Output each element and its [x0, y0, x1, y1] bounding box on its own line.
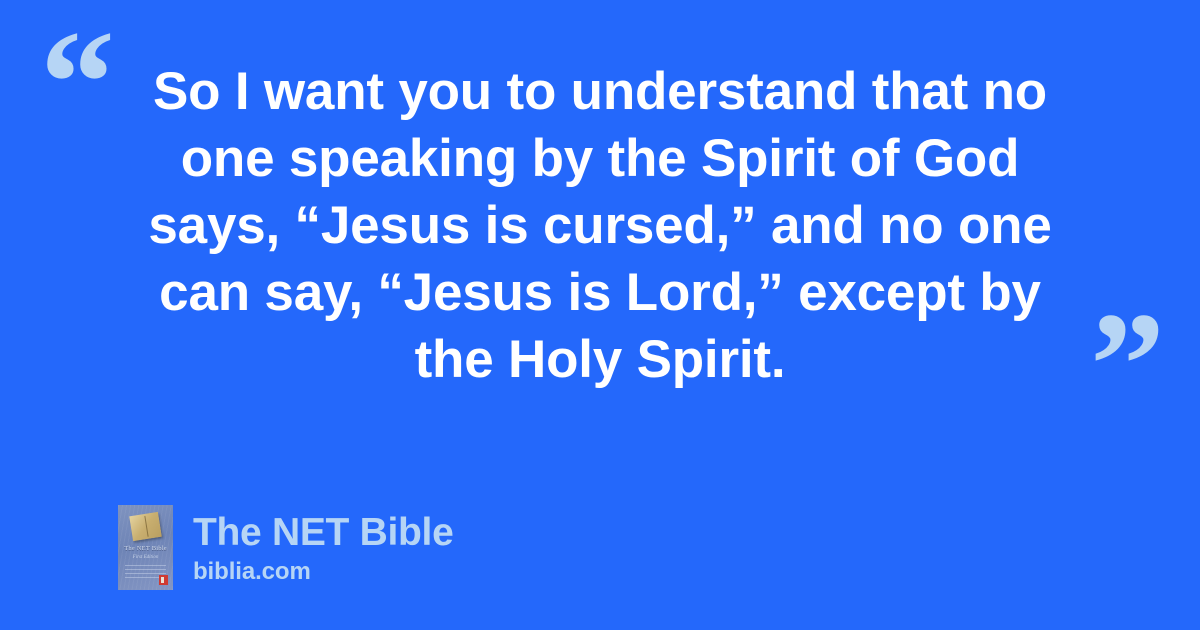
book-cover-thumbnail-icon: The NET Bible First Edition — [118, 505, 173, 590]
attribution-site-link[interactable]: biblia.com — [193, 558, 453, 585]
quote-line: one speaking by the Spirit of God — [110, 125, 1090, 192]
quote-line: So I want you to understand that no — [110, 58, 1090, 125]
quote-line: the Holy Spirit. — [110, 326, 1090, 393]
book-cover-subtitle: First Edition — [118, 555, 173, 560]
book-cover-title: The NET Bible — [118, 545, 173, 552]
close-quote-icon: ” — [1090, 290, 1162, 440]
attribution-title: The NET Bible — [193, 511, 453, 555]
attribution[interactable]: The NET Bible First Edition The NET Bibl… — [118, 505, 453, 590]
quote-card: “ So I want you to understand that no on… — [0, 0, 1200, 630]
book-cover-art-icon — [129, 512, 162, 541]
quote-line: says, “Jesus is cursed,” and no one — [110, 192, 1090, 259]
quote-line: can say, “Jesus is Lord,” except by — [110, 259, 1090, 326]
quote-text: So I want you to understand that no one … — [110, 58, 1090, 393]
publisher-logo-icon — [159, 575, 168, 585]
open-quote-icon: “ — [40, 8, 112, 158]
attribution-text: The NET Bible biblia.com — [193, 511, 453, 585]
